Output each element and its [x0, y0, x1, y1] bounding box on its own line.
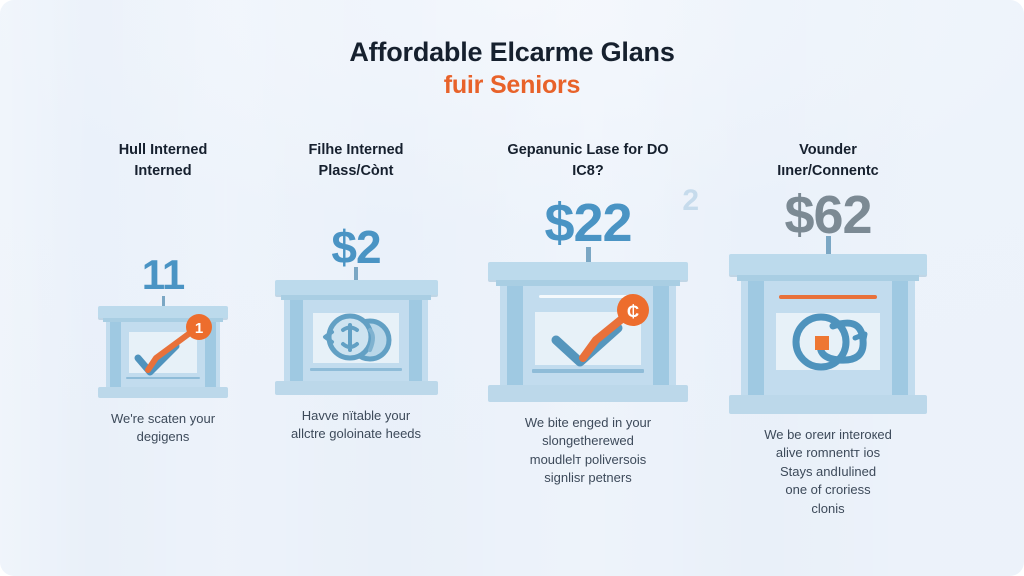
column-3-heading-line1: Gepanunic Lase for DO: [507, 142, 668, 158]
column-3-heading-line2: IC8?: [572, 163, 603, 179]
column-3-illustration: ₵: [488, 262, 688, 402]
caption-line: signlisr petners: [476, 469, 700, 487]
caption-line: slongetherewed: [476, 432, 700, 450]
column-3-heading: Gepanunic Lase for DO IC8?: [476, 140, 700, 186]
antenna-stem: [162, 296, 165, 306]
coins-glyph: [275, 280, 438, 395]
infographic-poster: Affordable Elcarme Glans fuir Seniors Hu…: [0, 0, 1024, 576]
column-2-heading-line2: Plass/Cònt: [319, 163, 394, 179]
column-3-value: $22 2: [476, 196, 700, 250]
caption-line: clonis: [723, 500, 933, 518]
antenna-stem: [354, 267, 358, 280]
column-4-illustration: [729, 254, 927, 414]
column-4-heading: Vounder Iıner/Connentc: [723, 140, 933, 186]
column-1-value: 11: [73, 254, 253, 296]
columns-container: Hull Interned Interned 11: [0, 140, 1024, 560]
caption-line: We're scaten your: [73, 410, 253, 428]
antenna-stem: [826, 236, 831, 254]
column-4-heading-line1: Vounder: [799, 142, 857, 158]
column-3: Gepanunic Lase for DO IC8? $22 2: [476, 140, 700, 488]
caption-line: We be oreиr interoкed: [723, 426, 933, 444]
column-1-illustration: 1: [98, 306, 228, 398]
bank-building-growth-arrow-icon: ₵: [488, 262, 688, 402]
column-2-value: $2: [263, 224, 449, 270]
bank-building-check-arrow-icon: 1: [98, 306, 228, 398]
column-4-value: $62: [723, 188, 933, 242]
svg-text:1: 1: [195, 320, 203, 337]
column-1-heading-line1: Hull Interned: [119, 142, 208, 158]
page-subtitle: fuir Seniors: [0, 72, 1024, 98]
column-4: Vounder Iıner/Connentc $62: [723, 140, 933, 518]
caption-line: moudlelт poliversois: [476, 451, 700, 469]
column-2-heading: Filhe Interned Plass/Cònt: [263, 140, 449, 186]
column-3-value-text: $22: [544, 193, 631, 253]
spiral-loop-glyph: [729, 254, 927, 414]
svg-text:₵: ₵: [627, 302, 639, 321]
column-1-heading-line2: Interned: [134, 163, 191, 179]
caption-line: Havve nïtable your: [263, 407, 449, 425]
column-2-heading-line1: Filhe Interned: [308, 142, 403, 158]
column-1-heading: Hull Interned Interned: [73, 140, 253, 186]
column-2-illustration: [275, 280, 438, 395]
caption-line: alive romnentт ios: [723, 444, 933, 462]
column-4-heading-line2: Iıner/Connentc: [777, 163, 879, 179]
caption-line: We bite enged in your: [476, 414, 700, 432]
growth-arrow-badge-glyph: ₵: [488, 262, 688, 402]
column-2: Filhe Interned Plass/Cònt $2: [263, 140, 449, 444]
bank-building-coins-icon: [275, 280, 438, 395]
caption-line: allсtre goloinate heeds: [263, 425, 449, 443]
poster-title-block: Affordable Elcarme Glans fuir Seniors: [0, 38, 1024, 99]
bank-building-spiral-icon: [729, 254, 927, 414]
column-1-caption: We're scaten your degigens: [73, 410, 253, 447]
caption-line: Stays andІulined: [723, 463, 933, 481]
caption-line: one of croriеss: [723, 481, 933, 499]
check-arrow-badge-glyph: 1: [98, 306, 228, 398]
column-4-caption: We be oreиr interoкed alive romnentт ios…: [723, 426, 933, 518]
caption-line: degigens: [73, 428, 253, 446]
column-3-caption: We bite enged in your slongetherewed mou…: [476, 414, 700, 488]
column-2-caption: Havve nïtable your allсtre goloinate hee…: [263, 407, 449, 444]
page-title: Affordable Elcarme Glans: [0, 38, 1024, 66]
column-1: Hull Interned Interned 11: [73, 140, 253, 447]
antenna-stem: [586, 247, 591, 262]
